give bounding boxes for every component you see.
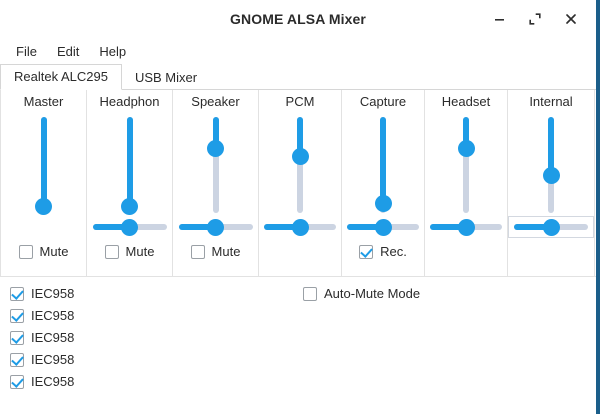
checkbox-box[interactable] xyxy=(105,245,119,259)
strip-label: Headset xyxy=(442,93,490,111)
switch-checkbox-box[interactable] xyxy=(10,309,24,323)
auto-mute-label: Auto-Mute Mode xyxy=(324,286,420,301)
close-button[interactable] xyxy=(554,4,588,34)
checkbox-box[interactable] xyxy=(19,245,33,259)
tab-realtek-alc295[interactable]: Realtek ALC295 xyxy=(0,64,122,90)
tab-usb-mixer[interactable]: USB Mixer xyxy=(122,66,210,90)
balance-slider-horizontal[interactable] xyxy=(430,218,502,236)
window-title: GNOME ALSA Mixer xyxy=(230,11,366,27)
switch-row[interactable]: IEC958 xyxy=(10,330,596,345)
slider-fill xyxy=(41,117,47,206)
balance-slider-container xyxy=(87,216,172,238)
balance-slider-horizontal[interactable] xyxy=(93,218,167,236)
strip-label: Speaker xyxy=(191,93,239,111)
close-icon xyxy=(564,12,578,26)
auto-mute-mode-checkbox[interactable]: Auto-Mute Mode xyxy=(303,286,420,301)
mixer-strip-headset: Headset xyxy=(425,90,508,276)
slider-handle[interactable] xyxy=(292,219,309,236)
volume-slider-vertical[interactable] xyxy=(373,117,393,213)
volume-slider-vertical[interactable] xyxy=(541,117,561,213)
checkbox-box[interactable] xyxy=(359,245,373,259)
switch-checkbox-box[interactable] xyxy=(10,331,24,345)
switch-row[interactable]: IEC958 xyxy=(10,308,596,323)
menu-item-edit[interactable]: Edit xyxy=(49,42,87,61)
switch-label: IEC958 xyxy=(31,308,74,323)
alsa-mixer-window: GNOME ALSA Mixer File Edit H xyxy=(0,0,600,414)
mixer-strip-headphon: HeadphonMute xyxy=(87,90,173,276)
mixer-strip-capture: CaptureRec. xyxy=(342,90,425,276)
switch-label: IEC958 xyxy=(31,330,74,345)
balance-slider-horizontal[interactable] xyxy=(514,218,588,236)
menu-bar: File Edit Help xyxy=(0,38,596,64)
volume-slider-vertical[interactable] xyxy=(456,117,476,213)
minimize-button[interactable] xyxy=(482,4,516,34)
slider-handle[interactable] xyxy=(543,219,560,236)
switch-checkbox-box[interactable] xyxy=(10,353,24,367)
slider-fill xyxy=(127,117,133,206)
strip-label: Headphon xyxy=(100,93,160,111)
mixer-strip-master: MasterMute xyxy=(0,90,87,276)
checkbox-box[interactable] xyxy=(191,245,205,259)
menu-item-file[interactable]: File xyxy=(8,42,45,61)
strip-label: PCM xyxy=(286,93,315,111)
balance-slider-container xyxy=(1,216,86,238)
menu-item-help[interactable]: Help xyxy=(91,42,134,61)
mute-checkbox[interactable]: Mute xyxy=(191,244,241,259)
switch-row[interactable]: IEC958 xyxy=(10,352,596,367)
strip-label: Master xyxy=(24,93,64,111)
mixer-strip-speaker: SpeakerMute xyxy=(173,90,259,276)
minimize-icon xyxy=(493,13,506,26)
switch-panel: IEC958IEC958IEC958IEC958IEC958 Auto-Mute… xyxy=(0,277,596,389)
volume-slider-vertical[interactable] xyxy=(120,117,140,213)
slider-handle[interactable] xyxy=(543,167,560,184)
volume-slider-vertical[interactable] xyxy=(206,117,226,213)
checkbox-label: Mute xyxy=(40,244,69,259)
balance-slider-container xyxy=(508,216,594,238)
volume-slider-vertical[interactable] xyxy=(34,117,54,213)
slider-handle[interactable] xyxy=(121,198,138,215)
switch-label: IEC958 xyxy=(31,286,74,301)
balance-slider-horizontal[interactable] xyxy=(264,218,336,236)
slider-handle[interactable] xyxy=(458,219,475,236)
checkbox-label: Rec. xyxy=(380,244,407,259)
mute-checkbox[interactable]: Mute xyxy=(105,244,155,259)
switch-label: IEC958 xyxy=(31,352,74,367)
mixer-strip-internal: Internal xyxy=(508,90,595,276)
switch-row[interactable]: IEC958 xyxy=(10,374,596,389)
checkbox-label: Mute xyxy=(126,244,155,259)
mixer-strip-pcm: PCM xyxy=(259,90,342,276)
rec-checkbox[interactable]: Rec. xyxy=(359,244,407,259)
balance-slider-container xyxy=(425,216,507,238)
volume-slider-vertical[interactable] xyxy=(290,117,310,213)
checkbox-label: Mute xyxy=(212,244,241,259)
balance-slider-container xyxy=(173,216,258,238)
balance-slider-horizontal[interactable] xyxy=(179,218,253,236)
slider-handle[interactable] xyxy=(292,148,309,165)
slider-handle[interactable] xyxy=(207,219,224,236)
slider-fill xyxy=(380,117,386,203)
slider-handle[interactable] xyxy=(207,140,224,157)
strip-label: Internal xyxy=(529,93,572,111)
slider-handle[interactable] xyxy=(35,198,52,215)
balance-slider-container xyxy=(259,216,341,238)
auto-mute-checkbox-box[interactable] xyxy=(303,287,317,301)
switch-checkbox-box[interactable] xyxy=(10,375,24,389)
maximize-button[interactable] xyxy=(518,4,552,34)
tab-bar: Realtek ALC295 USB Mixer xyxy=(0,64,596,90)
mixer-strip-panel: MasterMuteHeadphonMuteSpeakerMutePCMCapt… xyxy=(0,90,596,277)
title-bar: GNOME ALSA Mixer xyxy=(0,0,596,38)
slider-handle[interactable] xyxy=(458,140,475,157)
switch-checkbox-box[interactable] xyxy=(10,287,24,301)
balance-slider-container xyxy=(342,216,424,238)
switch-label: IEC958 xyxy=(31,374,74,389)
window-controls xyxy=(482,0,588,38)
balance-slider-horizontal[interactable] xyxy=(347,218,419,236)
strip-label: Capture xyxy=(360,93,406,111)
slider-handle[interactable] xyxy=(121,219,138,236)
mute-checkbox[interactable]: Mute xyxy=(19,244,69,259)
maximize-icon xyxy=(528,12,542,26)
slider-handle[interactable] xyxy=(375,195,392,212)
slider-handle[interactable] xyxy=(375,219,392,236)
iec958-switch-list: IEC958IEC958IEC958IEC958IEC958 xyxy=(10,286,596,389)
